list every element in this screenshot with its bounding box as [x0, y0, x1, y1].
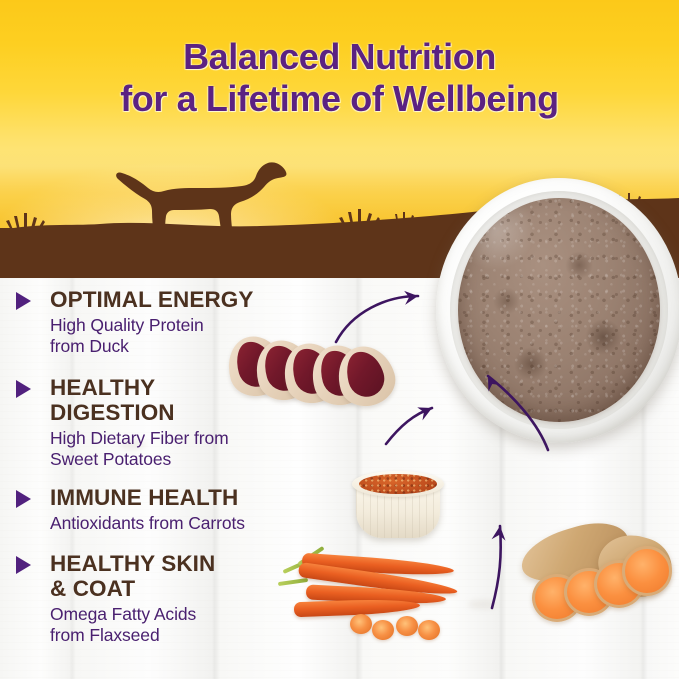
title-line-1: Balanced Nutrition — [0, 36, 679, 78]
arrow-carrots-to-bowl — [488, 376, 548, 450]
arrow-sweetpotato-to-bowl — [492, 526, 501, 608]
page-title: Balanced Nutrition for a Lifetime of Wel… — [0, 36, 679, 121]
ingredient-arrows — [0, 278, 679, 679]
arrow-duck-to-bowl — [336, 296, 418, 342]
product-infographic: Balanced Nutrition for a Lifetime of Wel… — [0, 0, 679, 679]
title-line-2: for a Lifetime of Wellbeing — [0, 78, 679, 120]
